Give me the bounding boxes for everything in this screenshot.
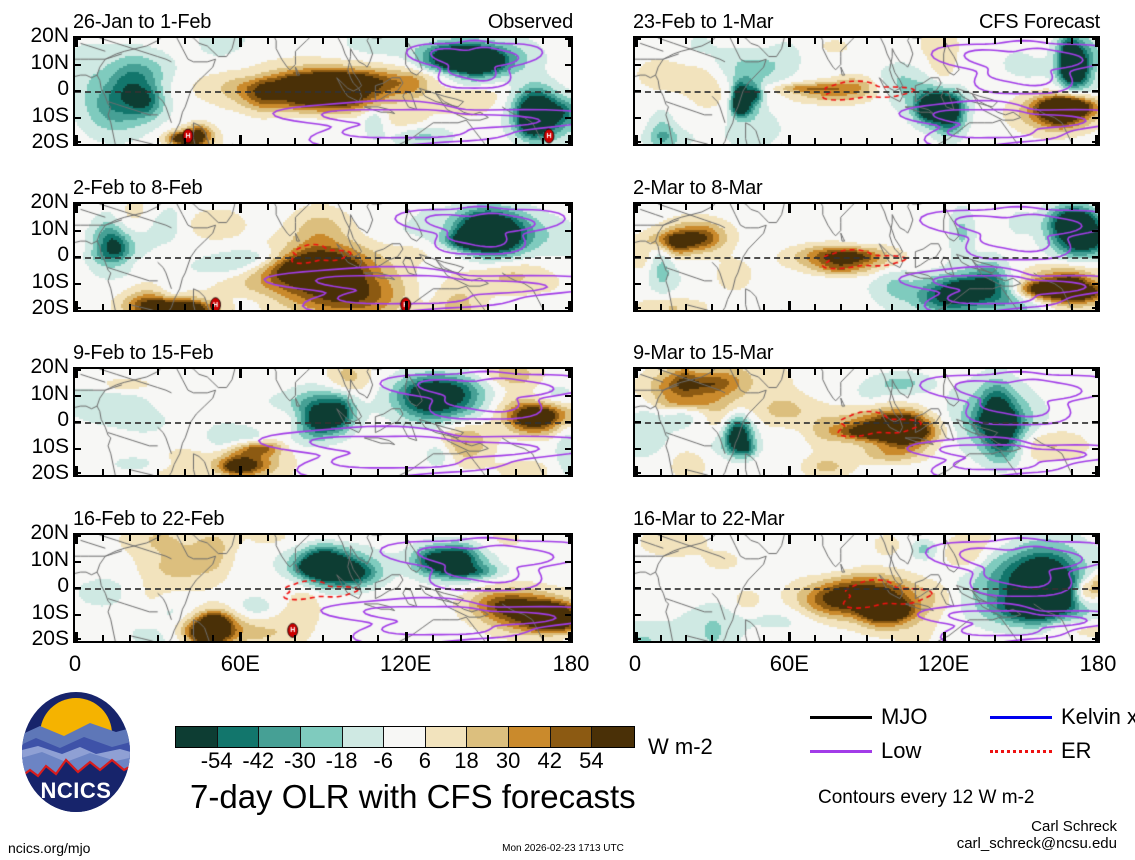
author-name: Carl Schreck xyxy=(957,818,1117,835)
x-tick xyxy=(184,304,186,310)
y-tick xyxy=(635,90,641,92)
x-tick xyxy=(968,138,970,144)
x-tick xyxy=(184,204,186,210)
panel-3: 9-Feb to 15-Feb xyxy=(73,345,573,477)
x-tick xyxy=(157,469,159,475)
colorbar-swatch xyxy=(467,727,509,747)
map-plot-area[interactable] xyxy=(633,367,1100,477)
x-tick xyxy=(267,38,269,44)
x-tick xyxy=(711,204,713,210)
equator-line xyxy=(75,588,571,590)
panel-column-header: Observed xyxy=(488,12,573,32)
y-axis-label-0: 0 xyxy=(0,575,69,596)
y-tick xyxy=(635,448,641,450)
generation-timestamp: Mon 2026-02-23 1713 UTC xyxy=(502,843,624,855)
x-tick xyxy=(377,304,379,310)
x-tick xyxy=(1046,138,1048,144)
x-axis-label-0: 0 xyxy=(629,652,641,676)
y-axis-label-10n: 10N xyxy=(0,218,69,239)
x-tick xyxy=(840,38,842,44)
x-tick xyxy=(129,204,131,210)
x-tick xyxy=(129,304,131,310)
x-tick xyxy=(943,301,946,310)
x-tick xyxy=(685,304,687,310)
panel-2: 2-Feb to 8-Feb xyxy=(73,180,573,312)
x-tick xyxy=(377,369,379,375)
x-tick xyxy=(968,535,970,541)
equator-line xyxy=(75,422,571,424)
x-tick xyxy=(542,369,544,375)
x-tick xyxy=(1020,304,1022,310)
y-tick xyxy=(635,38,641,40)
x-tick xyxy=(487,138,489,144)
y-tick xyxy=(565,141,571,143)
x-tick xyxy=(377,469,379,475)
legend-label: Kelvin x2 xyxy=(1061,706,1135,728)
x-tick xyxy=(460,204,462,210)
y-tick xyxy=(635,472,641,474)
x-tick xyxy=(129,369,131,375)
colorbar-swatch xyxy=(551,727,593,747)
x-tick xyxy=(917,204,919,210)
x-tick xyxy=(184,469,186,475)
x-tick xyxy=(515,469,517,475)
x-tick xyxy=(737,138,739,144)
x-tick xyxy=(1020,38,1022,44)
y-tick xyxy=(565,472,571,474)
x-tick xyxy=(322,369,324,375)
y-tick xyxy=(565,256,571,258)
y-tick xyxy=(75,421,81,423)
x-tick xyxy=(917,138,919,144)
x-tick xyxy=(943,204,946,213)
x-tick xyxy=(814,38,816,44)
x-tick xyxy=(1046,304,1048,310)
legend-item-kelvin-x2: Kelvin x2 xyxy=(990,706,1135,728)
y-tick xyxy=(565,587,571,589)
map-plot-area[interactable] xyxy=(633,202,1100,312)
y-tick xyxy=(565,307,571,309)
x-tick xyxy=(294,38,296,44)
y-tick xyxy=(1092,395,1098,397)
x-tick xyxy=(840,469,842,475)
x-tick xyxy=(157,535,159,541)
y-tick xyxy=(565,369,571,371)
x-tick xyxy=(737,204,739,210)
x-tick xyxy=(294,469,296,475)
x-tick xyxy=(350,469,352,475)
x-tick xyxy=(660,204,662,210)
x-tick xyxy=(866,304,868,310)
x-tick xyxy=(968,38,970,44)
x-tick xyxy=(432,304,434,310)
legend-item-mjo: MJO xyxy=(810,706,927,728)
y-tick xyxy=(565,90,571,92)
x-tick xyxy=(487,635,489,641)
y-axis-label-20n: 20N xyxy=(0,25,69,46)
colorbar-swatch xyxy=(176,727,218,747)
x-tick xyxy=(994,138,996,144)
x-tick xyxy=(184,635,186,641)
y-tick xyxy=(1092,283,1098,285)
panel-title: 23-Feb to 1-Mar xyxy=(633,12,773,32)
x-tick xyxy=(943,38,946,47)
x-tick xyxy=(968,204,970,210)
equator-line xyxy=(635,588,1098,590)
x-tick xyxy=(542,38,544,44)
x-tick xyxy=(891,635,893,641)
x-tick xyxy=(212,535,214,541)
x-tick xyxy=(267,304,269,310)
x-tick xyxy=(515,204,517,210)
y-tick xyxy=(1092,230,1098,232)
x-axis-label-0: 0 xyxy=(69,652,81,676)
x-tick xyxy=(157,369,159,375)
x-tick xyxy=(129,635,131,641)
x-tick xyxy=(685,38,687,44)
x-tick xyxy=(239,466,242,475)
x-tick xyxy=(685,535,687,541)
x-tick xyxy=(294,635,296,641)
colorbar-tick: 6 xyxy=(419,750,431,772)
y-tick xyxy=(565,614,571,616)
y-tick xyxy=(75,535,81,537)
colorbar-swatch xyxy=(343,727,385,747)
y-tick xyxy=(75,90,81,92)
y-tick xyxy=(635,587,641,589)
colorbar-tick: -18 xyxy=(326,750,358,772)
y-tick xyxy=(635,369,641,371)
x-tick xyxy=(1071,38,1073,44)
y-axis-label-10s: 10S xyxy=(0,271,69,292)
equator-line xyxy=(635,422,1098,424)
x-tick xyxy=(814,204,816,210)
x-tick xyxy=(660,535,662,541)
x-tick xyxy=(322,204,324,210)
x-tick xyxy=(814,635,816,641)
x-tick xyxy=(866,138,868,144)
x-tick xyxy=(788,135,791,144)
olr-figure: 20N10N010S20S20N10N010S20S20N10N010S20S2… xyxy=(0,0,1135,860)
legend-line-swatch xyxy=(810,716,872,719)
x-tick xyxy=(377,204,379,210)
x-tick xyxy=(460,469,462,475)
x-tick xyxy=(102,138,104,144)
x-tick xyxy=(994,38,996,44)
x-tick xyxy=(660,635,662,641)
x-tick xyxy=(377,38,379,44)
x-tick xyxy=(515,138,517,144)
y-axis-label-0: 0 xyxy=(0,244,69,265)
x-tick xyxy=(763,635,765,641)
x-tick xyxy=(1071,635,1073,641)
y-tick xyxy=(75,448,81,450)
x-tick xyxy=(322,304,324,310)
x-tick xyxy=(212,635,214,641)
y-tick xyxy=(75,472,81,474)
y-tick xyxy=(1092,204,1098,206)
x-tick xyxy=(542,535,544,541)
x-tick xyxy=(102,535,104,541)
x-tick xyxy=(763,138,765,144)
x-tick xyxy=(487,304,489,310)
colorbar-swatch xyxy=(509,727,551,747)
x-tick xyxy=(685,469,687,475)
x-tick xyxy=(350,204,352,210)
x-tick xyxy=(763,469,765,475)
panel-title: 2-Mar to 8-Mar xyxy=(633,178,762,198)
x-tick xyxy=(814,535,816,541)
y-axis-label-10n: 10N xyxy=(0,383,69,404)
x-tick xyxy=(968,635,970,641)
y-tick xyxy=(75,117,81,119)
author-credit: Carl Schreck carl_schreck@ncsu.edu xyxy=(957,818,1117,852)
x-tick xyxy=(432,635,434,641)
x-tick xyxy=(891,304,893,310)
x-tick xyxy=(891,204,893,210)
x-tick xyxy=(350,535,352,541)
x-tick xyxy=(405,535,408,544)
x-tick xyxy=(685,204,687,210)
legend-label: MJO xyxy=(881,706,927,728)
x-axis-label-60e: 60E xyxy=(770,652,809,676)
x-tick xyxy=(1046,535,1048,541)
legend-line-swatch xyxy=(810,750,872,753)
map-plot-area[interactable] xyxy=(73,36,573,146)
y-tick xyxy=(635,535,641,537)
x-tick xyxy=(350,635,352,641)
panel-column-header: CFS Forecast xyxy=(979,12,1100,32)
x-tick xyxy=(891,535,893,541)
x-tick xyxy=(1020,535,1022,541)
y-tick xyxy=(635,614,641,616)
x-tick xyxy=(968,369,970,375)
x-tick xyxy=(866,469,868,475)
map-plot-area[interactable] xyxy=(633,533,1100,643)
map-plot-area[interactable] xyxy=(73,533,573,643)
x-tick xyxy=(711,38,713,44)
x-tick xyxy=(763,304,765,310)
x-tick xyxy=(788,301,791,310)
x-tick xyxy=(405,204,408,213)
colorbar-swatch xyxy=(259,727,301,747)
x-tick xyxy=(350,369,352,375)
legend-line-swatch xyxy=(990,716,1052,719)
x-axis-label-120e: 120E xyxy=(380,652,431,676)
contour-legend: MJOKelvin x2LowER xyxy=(810,706,1130,768)
map-plot-area[interactable] xyxy=(73,367,573,477)
y-tick xyxy=(565,64,571,66)
map-plot-area[interactable] xyxy=(633,36,1100,146)
x-tick xyxy=(460,535,462,541)
x-tick xyxy=(350,304,352,310)
y-tick xyxy=(1092,614,1098,616)
x-tick xyxy=(737,469,739,475)
x-tick xyxy=(350,38,352,44)
x-tick xyxy=(322,635,324,641)
x-tick xyxy=(994,535,996,541)
x-tick xyxy=(294,535,296,541)
y-axis-label-20s: 20S xyxy=(0,462,69,483)
y-tick xyxy=(75,283,81,285)
colorbar-units-label: W m-2 xyxy=(648,736,713,758)
x-tick xyxy=(917,469,919,475)
x-tick xyxy=(432,204,434,210)
x-tick xyxy=(542,635,544,641)
x-tick xyxy=(891,38,893,44)
x-tick xyxy=(711,369,713,375)
y-tick xyxy=(1092,256,1098,258)
x-tick xyxy=(212,304,214,310)
x-tick xyxy=(542,304,544,310)
panel-4: 16-Feb to 22-Feb xyxy=(73,511,573,643)
legend-item-low: Low xyxy=(810,740,921,762)
y-tick xyxy=(565,204,571,206)
x-tick xyxy=(840,369,842,375)
x-tick xyxy=(157,138,159,144)
x-tick xyxy=(487,369,489,375)
y-tick xyxy=(75,307,81,309)
y-axis-label-0: 0 xyxy=(0,78,69,99)
colorbar-swatch xyxy=(218,727,260,747)
y-axis-label-0: 0 xyxy=(0,409,69,430)
x-tick xyxy=(377,535,379,541)
legend-label: ER xyxy=(1061,740,1092,762)
x-tick xyxy=(487,38,489,44)
site-url[interactable]: ncics.org/mjo xyxy=(8,840,90,856)
x-tick xyxy=(660,304,662,310)
panel-title: 16-Mar to 22-Mar xyxy=(633,509,784,529)
y-tick xyxy=(1092,587,1098,589)
x-tick xyxy=(763,204,765,210)
x-tick xyxy=(267,204,269,210)
y-tick xyxy=(1092,90,1098,92)
contour-interval-note: Contours every 12 W m-2 xyxy=(818,788,1034,807)
y-tick xyxy=(75,64,81,66)
x-tick xyxy=(542,204,544,210)
y-tick xyxy=(1092,307,1098,309)
y-tick xyxy=(1092,141,1098,143)
x-tick xyxy=(1071,469,1073,475)
x-tick xyxy=(685,635,687,641)
y-tick xyxy=(565,395,571,397)
x-tick xyxy=(267,369,269,375)
legend-label: Low xyxy=(881,740,921,762)
x-tick xyxy=(788,535,791,544)
x-tick xyxy=(866,204,868,210)
colorbar-swatch xyxy=(426,727,468,747)
x-tick xyxy=(102,204,104,210)
x-tick xyxy=(994,469,996,475)
y-tick xyxy=(635,256,641,258)
y-tick xyxy=(565,117,571,119)
x-tick xyxy=(711,535,713,541)
x-tick xyxy=(102,304,104,310)
colorbar-tick: 54 xyxy=(579,750,603,772)
y-tick xyxy=(1092,472,1098,474)
x-tick xyxy=(943,135,946,144)
x-tick xyxy=(129,469,131,475)
x-tick xyxy=(515,38,517,44)
x-tick xyxy=(239,632,242,641)
x-tick xyxy=(814,469,816,475)
x-tick xyxy=(840,635,842,641)
y-axis-label-10s: 10S xyxy=(0,105,69,126)
y-axis-label-10s: 10S xyxy=(0,602,69,623)
colorbar-tick: -30 xyxy=(284,750,316,772)
x-tick xyxy=(515,304,517,310)
y-tick xyxy=(1092,38,1098,40)
x-tick xyxy=(1046,469,1048,475)
x-tick xyxy=(487,535,489,541)
y-tick xyxy=(565,421,571,423)
x-tick xyxy=(994,304,996,310)
x-tick xyxy=(788,632,791,641)
x-tick xyxy=(239,204,242,213)
y-tick xyxy=(1092,638,1098,640)
y-tick xyxy=(635,421,641,423)
panel-title: 9-Mar to 15-Mar xyxy=(633,343,773,363)
x-tick xyxy=(1071,138,1073,144)
x-axis-label-60e: 60E xyxy=(221,652,260,676)
y-axis-label-10n: 10N xyxy=(0,52,69,73)
x-tick xyxy=(917,535,919,541)
x-tick xyxy=(515,535,517,541)
y-tick xyxy=(565,535,571,537)
x-tick xyxy=(515,369,517,375)
y-axis-label-20n: 20N xyxy=(0,522,69,543)
x-tick xyxy=(515,635,517,641)
x-tick xyxy=(943,466,946,475)
x-tick xyxy=(788,369,791,378)
colorbar-swatch xyxy=(301,727,343,747)
x-tick xyxy=(1071,204,1073,210)
x-tick xyxy=(129,535,131,541)
y-tick xyxy=(635,64,641,66)
panel-title: 9-Feb to 15-Feb xyxy=(73,343,213,363)
y-tick xyxy=(1092,64,1098,66)
x-tick xyxy=(788,38,791,47)
y-tick xyxy=(75,141,81,143)
x-tick xyxy=(405,301,408,310)
x-tick xyxy=(239,535,242,544)
x-tick xyxy=(840,204,842,210)
x-tick xyxy=(711,138,713,144)
x-tick xyxy=(685,138,687,144)
legend-line-swatch xyxy=(990,750,1052,753)
x-tick xyxy=(737,369,739,375)
author-email: carl_schreck@ncsu.edu xyxy=(957,835,1117,852)
y-tick xyxy=(1092,561,1098,563)
y-axis-label-20s: 20S xyxy=(0,628,69,649)
legend-item-er: ER xyxy=(990,740,1092,762)
y-tick xyxy=(565,638,571,640)
y-tick xyxy=(565,230,571,232)
x-tick xyxy=(737,304,739,310)
colorbar-tick: -42 xyxy=(242,750,274,772)
equator-line xyxy=(75,257,571,259)
x-tick xyxy=(267,535,269,541)
y-tick xyxy=(1092,369,1098,371)
x-tick xyxy=(866,369,868,375)
x-tick xyxy=(377,138,379,144)
map-plot-area[interactable] xyxy=(73,202,573,312)
y-tick xyxy=(565,38,571,40)
panel-8: 16-Mar to 22-Mar xyxy=(633,511,1100,643)
x-tick xyxy=(917,635,919,641)
x-tick xyxy=(322,138,324,144)
x-tick xyxy=(157,304,159,310)
